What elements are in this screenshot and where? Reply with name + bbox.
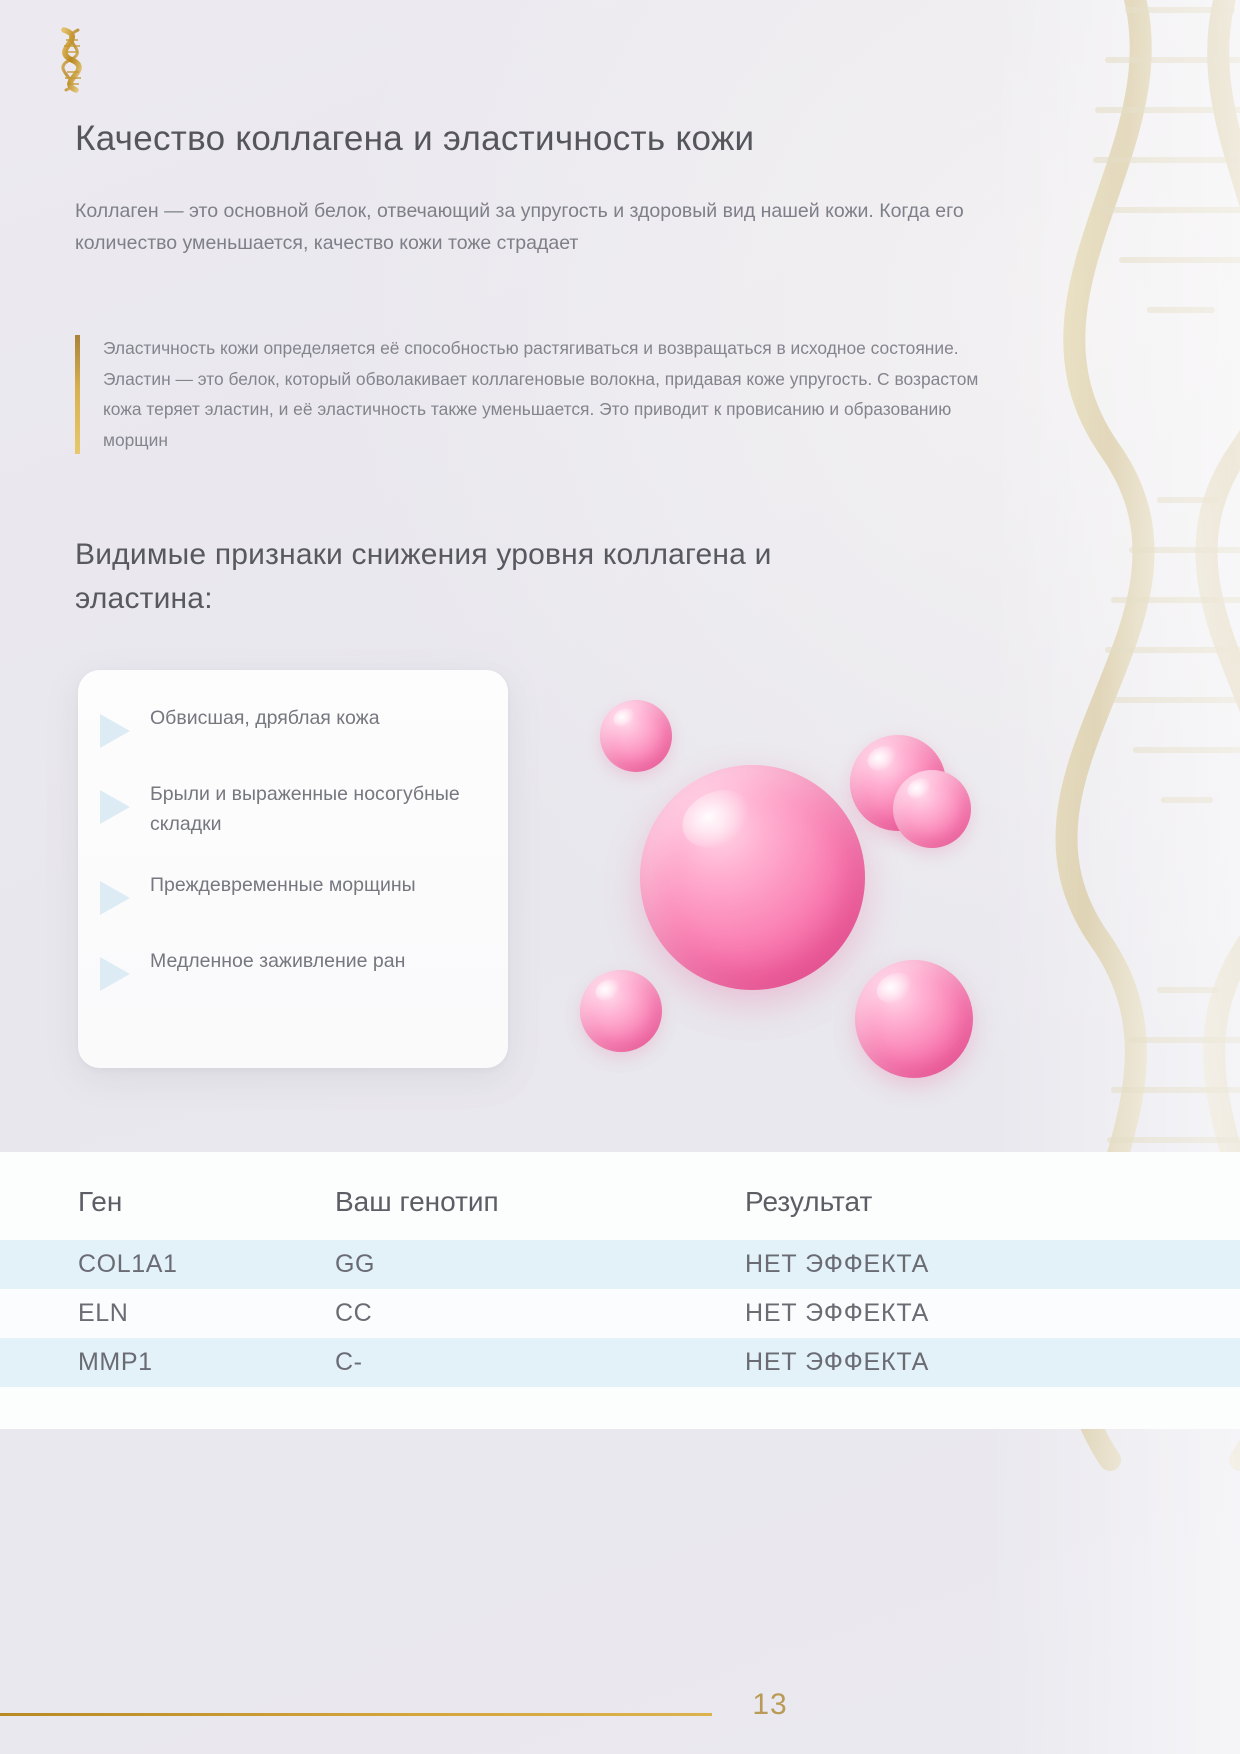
- cell-result: НЕТ ЭФФЕКТА: [735, 1338, 1240, 1387]
- footer-divider: [0, 1713, 712, 1716]
- triangle-right-icon: [100, 790, 130, 824]
- genotype-results-table: Ген Ваш генотип Результат COL1A1 GG НЕТ …: [0, 1152, 1240, 1429]
- bubble-top-right-front: [893, 770, 971, 848]
- column-header-gene: Ген: [0, 1152, 325, 1240]
- table-bottom-spacer: [0, 1387, 1240, 1429]
- dna-helix-icon: [42, 24, 104, 96]
- triangle-right-icon: [100, 957, 130, 991]
- table-row: ELN CC НЕТ ЭФФЕКТА: [0, 1289, 1240, 1338]
- triangle-right-icon: [100, 881, 130, 915]
- page-number: 13: [735, 1688, 805, 1722]
- table-header-row: Ген Ваш генотип Результат: [0, 1152, 1240, 1240]
- table-row: COL1A1 GG НЕТ ЭФФЕКТА: [0, 1240, 1240, 1289]
- column-header-result: Результат: [735, 1152, 1240, 1240]
- signs-list: Обвисшая, дряблая кожа Брыли и выраженны…: [100, 700, 500, 991]
- cell-gene: COL1A1: [0, 1240, 325, 1289]
- callout-text: Эластичность кожи определяется её способ…: [103, 338, 978, 450]
- list-item: Обвисшая, дряблая кожа: [100, 700, 500, 748]
- elasticity-callout: Эластичность кожи определяется её способ…: [75, 333, 1005, 456]
- cell-result: НЕТ ЭФФЕКТА: [735, 1240, 1240, 1289]
- background-haze: [880, 0, 1240, 1754]
- list-item: Медленное заживление ран: [100, 943, 500, 991]
- page-title: Качество коллагена и эластичность кожи: [75, 118, 975, 161]
- cell-gene: MMP1: [0, 1338, 325, 1387]
- column-header-genotype: Ваш генотип: [325, 1152, 735, 1240]
- list-item-label: Медленное заживление ран: [150, 943, 405, 977]
- bubble-top-right-back: [850, 735, 946, 831]
- cell-genotype: C-: [325, 1338, 735, 1387]
- list-item-label: Брыли и выраженные носогубные складки: [150, 776, 500, 839]
- bubble-bottom-right: [855, 960, 973, 1078]
- list-item: Преждевременные морщины: [100, 867, 500, 915]
- cell-genotype: CC: [325, 1289, 735, 1338]
- list-item-label: Преждевременные морщины: [150, 867, 416, 901]
- spacer-cell: [0, 1387, 1240, 1429]
- cell-result: НЕТ ЭФФЕКТА: [735, 1289, 1240, 1338]
- list-item: Брыли и выраженные носогубные складки: [100, 776, 500, 839]
- table-row: MMP1 C- НЕТ ЭФФЕКТА: [0, 1338, 1240, 1387]
- triangle-right-icon: [100, 714, 130, 748]
- bubble-main: [640, 765, 865, 990]
- section-heading-visible-signs: Видимые признаки снижения уровня коллаге…: [75, 533, 895, 620]
- cell-gene: ELN: [0, 1289, 325, 1338]
- page-canvas: Качество коллагена и эластичность кожи К…: [0, 0, 1240, 1754]
- pink-collagen-bubbles-illustration: [555, 660, 1025, 1090]
- intro-paragraph: Коллаген — это основной белок, отвечающи…: [75, 196, 975, 259]
- list-item-label: Обвисшая, дряблая кожа: [150, 700, 380, 734]
- bubble-bottom-left: [580, 970, 662, 1052]
- cell-genotype: GG: [325, 1240, 735, 1289]
- bubble-small-top-left: [600, 700, 672, 772]
